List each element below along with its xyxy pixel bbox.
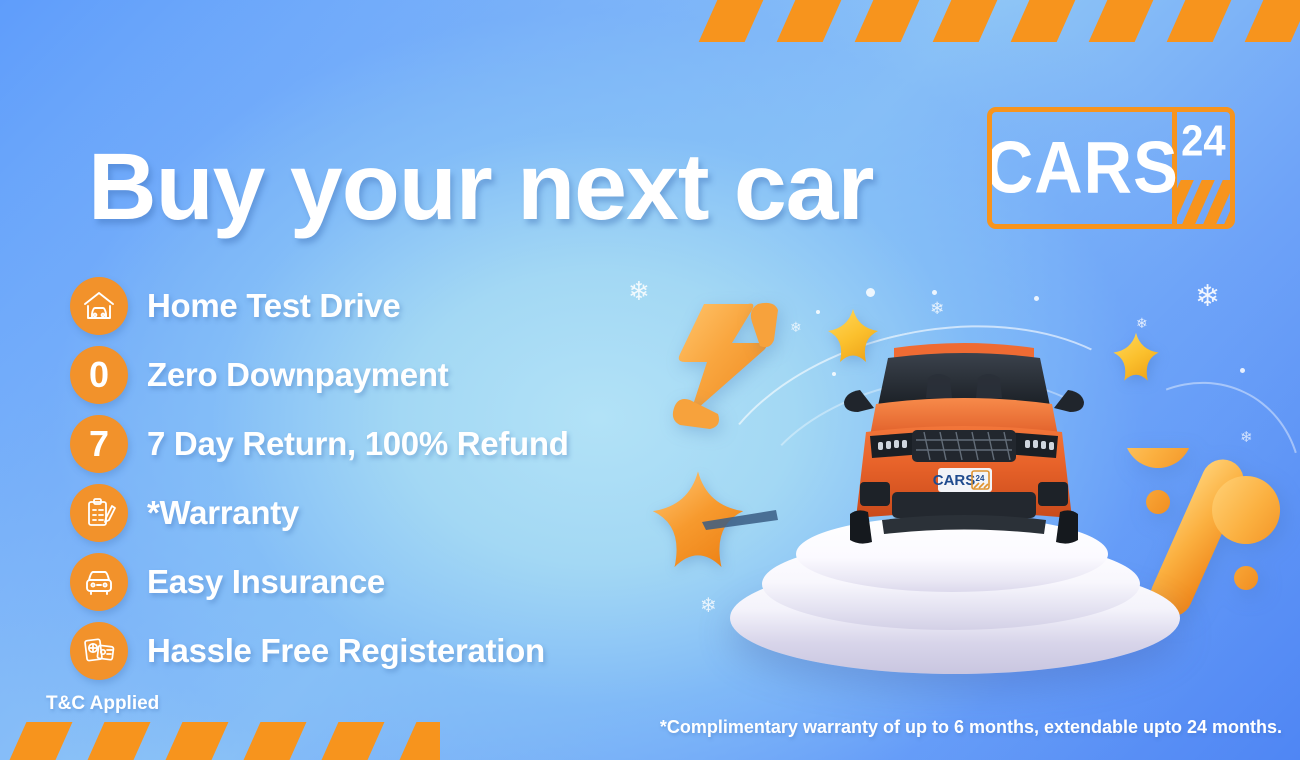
- car-plate-number: 24: [976, 474, 985, 483]
- stripe-bar: [690, 0, 692, 42]
- feature-list: Home Test Drive 0 Zero Downpayment 7 7 D…: [70, 272, 569, 686]
- stripe-bar: [1082, 0, 1159, 42]
- top-stripe-band: [690, 0, 1300, 42]
- feature-item-zero-downpayment[interactable]: 0 Zero Downpayment: [70, 341, 569, 409]
- zero-number-icon: 0: [70, 346, 128, 404]
- feature-item-hassle-free-registration[interactable]: Hassle Free Registeration: [70, 617, 569, 685]
- feature-label: Hassle Free Registeration: [147, 632, 545, 670]
- warranty-clipboard-icon: [70, 484, 128, 542]
- stripe-bar: [1160, 0, 1237, 42]
- bottom-stripe-band: [0, 722, 440, 760]
- disclaimer-text: *Complimentary warranty of up to 6 month…: [660, 717, 1282, 738]
- cars24-logo: CARS 24: [987, 107, 1235, 229]
- badge-number: 7: [89, 426, 109, 462]
- feature-item-easy-insurance[interactable]: Easy Insurance: [70, 548, 569, 616]
- registration-documents-icon: [70, 622, 128, 680]
- stripe-bar: [926, 0, 1003, 42]
- feature-label: *Warranty: [147, 494, 299, 532]
- car-insurance-icon: [70, 553, 128, 611]
- stripe-bar: [3, 722, 78, 760]
- terms-text: T&C Applied: [46, 693, 159, 715]
- sparkle-dot: [1034, 296, 1039, 301]
- stripe-bar: [159, 722, 234, 760]
- logo-word: CARS: [987, 126, 1179, 210]
- snowflake-icon: ❄: [790, 320, 802, 334]
- seven-number-icon: 7: [70, 415, 128, 473]
- feature-label: Zero Downpayment: [147, 356, 448, 394]
- snowflake-icon: ❄: [1136, 316, 1148, 330]
- logo-stripe-pattern: [1177, 180, 1230, 224]
- star-icon: [1108, 330, 1164, 386]
- feature-label: Easy Insurance: [147, 563, 385, 601]
- home-test-drive-icon: [70, 277, 128, 335]
- feature-item-home-test-drive[interactable]: Home Test Drive: [70, 272, 569, 340]
- stripe-bar: [1004, 0, 1081, 42]
- snowflake-icon: ❄: [628, 278, 650, 304]
- feature-label: 7 Day Return, 100% Refund: [147, 425, 569, 463]
- badge-number: 0: [89, 357, 109, 393]
- stripe-bar: [0, 722, 1, 760]
- stripe-bar: [237, 722, 312, 760]
- stripe-bar: [1238, 0, 1300, 42]
- sparkle-dot: [1240, 368, 1245, 373]
- stripe-bar: [315, 722, 390, 760]
- logo-number: 24: [1177, 117, 1230, 167]
- car-image: CARS 24: [836, 332, 1092, 550]
- feature-item-seven-day-return[interactable]: 7 7 Day Return, 100% Refund: [70, 410, 569, 478]
- feature-label: Home Test Drive: [147, 287, 400, 325]
- sparkle-dot: [932, 290, 937, 295]
- stripe-bar: [848, 0, 925, 42]
- bolt-fragment-icon: [668, 392, 724, 434]
- promo-banner: ❄ ❄ ❄ ❄ ❄ ❄ ❄ ❄ Buy your next car CARS 2…: [0, 0, 1300, 760]
- bolt-fragment-icon: [744, 300, 790, 352]
- snowflake-icon: ❄: [1195, 282, 1220, 312]
- logo-word-box: CARS: [992, 112, 1177, 224]
- feature-item-warranty[interactable]: *Warranty: [70, 479, 569, 547]
- stripe-bar: [770, 0, 847, 42]
- car-plate-word: CARS: [933, 472, 976, 489]
- sparkle-dot: [816, 310, 820, 314]
- sparkle-dot: [866, 288, 875, 297]
- stripe-bar: [393, 722, 440, 760]
- stripe-bar: [692, 0, 769, 42]
- logo-number-box: 24: [1177, 112, 1230, 224]
- page-title: Buy your next car: [88, 133, 874, 242]
- snowflake-icon: ❄: [930, 300, 944, 317]
- stripe-bar: [81, 722, 156, 760]
